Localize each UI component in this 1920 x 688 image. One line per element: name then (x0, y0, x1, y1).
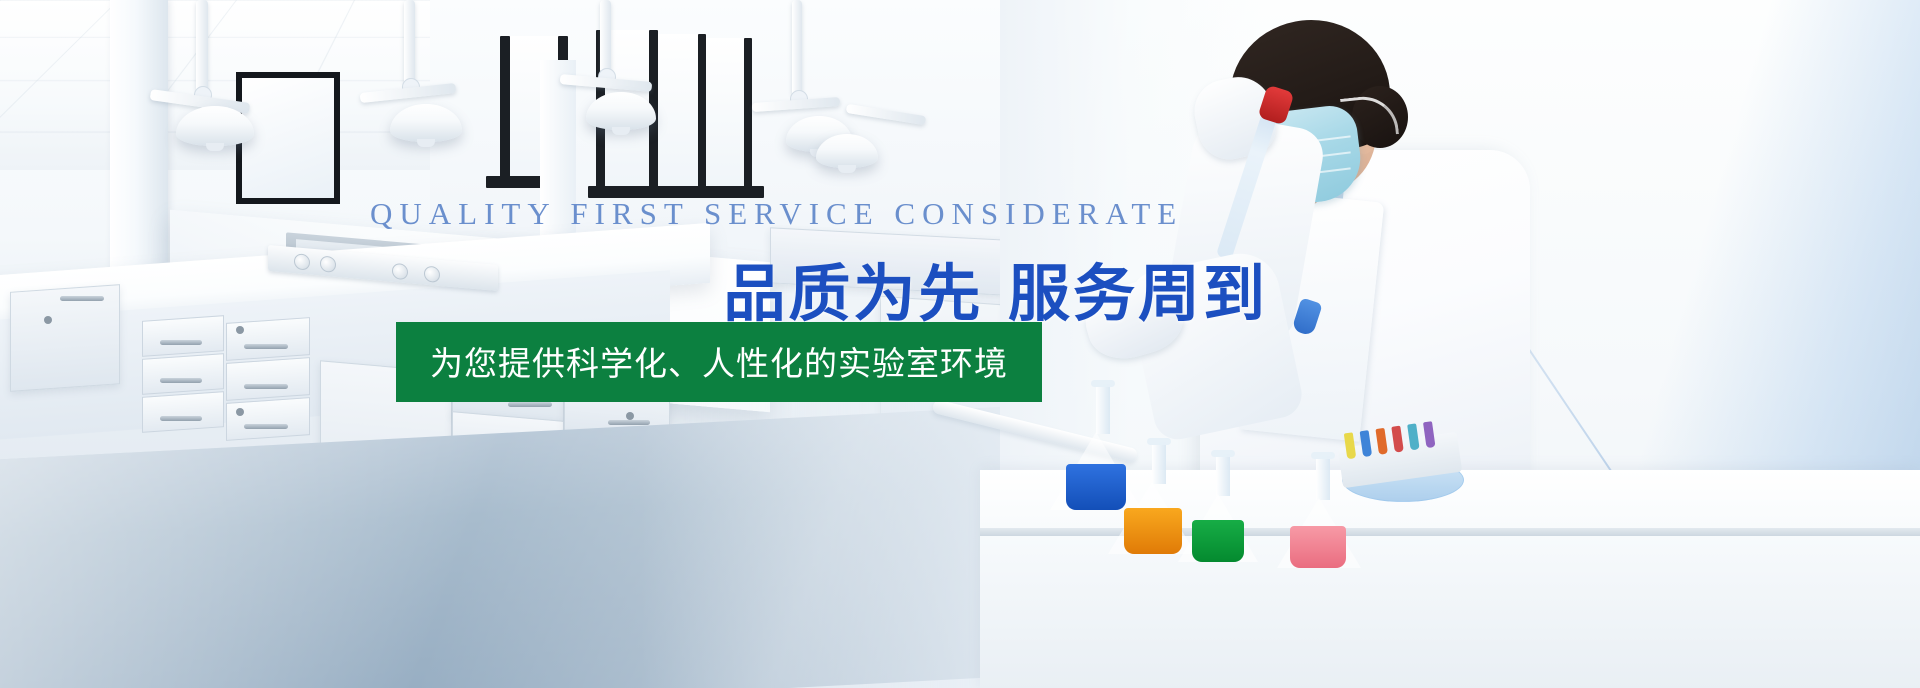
drawer (226, 397, 310, 441)
window-glass-left (242, 78, 334, 198)
hero-subtitle-bar: 为您提供科学化、人性化的实验室环境 (396, 322, 1042, 402)
drawer-handle (244, 424, 288, 429)
window-mullion (500, 36, 510, 186)
drawer-lock (236, 326, 244, 334)
extraction-arm-rod (196, 0, 208, 92)
window-mullion (744, 38, 752, 190)
extraction-arm-rod (404, 0, 415, 84)
drawer-lock (236, 408, 244, 416)
hero-text-block: QUALITY FIRST SERVICE CONSIDERATE 品质为先 服… (370, 196, 1250, 456)
extraction-arm-rod (792, 0, 802, 96)
window-mullion (698, 34, 706, 190)
structural-pillar (110, 0, 168, 300)
window-glass (658, 34, 698, 190)
drawer-handle (160, 416, 202, 421)
drawer (142, 353, 224, 395)
drawer-handle (160, 378, 202, 383)
drawer (226, 317, 310, 361)
drawer (226, 357, 310, 401)
drawer-handle (244, 384, 288, 389)
hero-eyebrow-english: QUALITY FIRST SERVICE CONSIDERATE (370, 196, 1183, 232)
extraction-arm-rod (600, 0, 611, 74)
cabinet-handle (60, 296, 104, 301)
hero-headline: 品质为先 服务周到 (723, 243, 1268, 333)
hero-banner: QUALITY FIRST SERVICE CONSIDERATE 品质为先 服… (0, 0, 1920, 688)
window-glass (706, 38, 744, 190)
drawer-handle (160, 340, 202, 345)
drawer (142, 391, 224, 433)
cabinet-lock (44, 316, 52, 324)
drawer (142, 315, 224, 357)
hero-subtitle-text: 为您提供科学化、人性化的实验室环境 (430, 344, 1008, 383)
drawer-handle (244, 344, 288, 349)
